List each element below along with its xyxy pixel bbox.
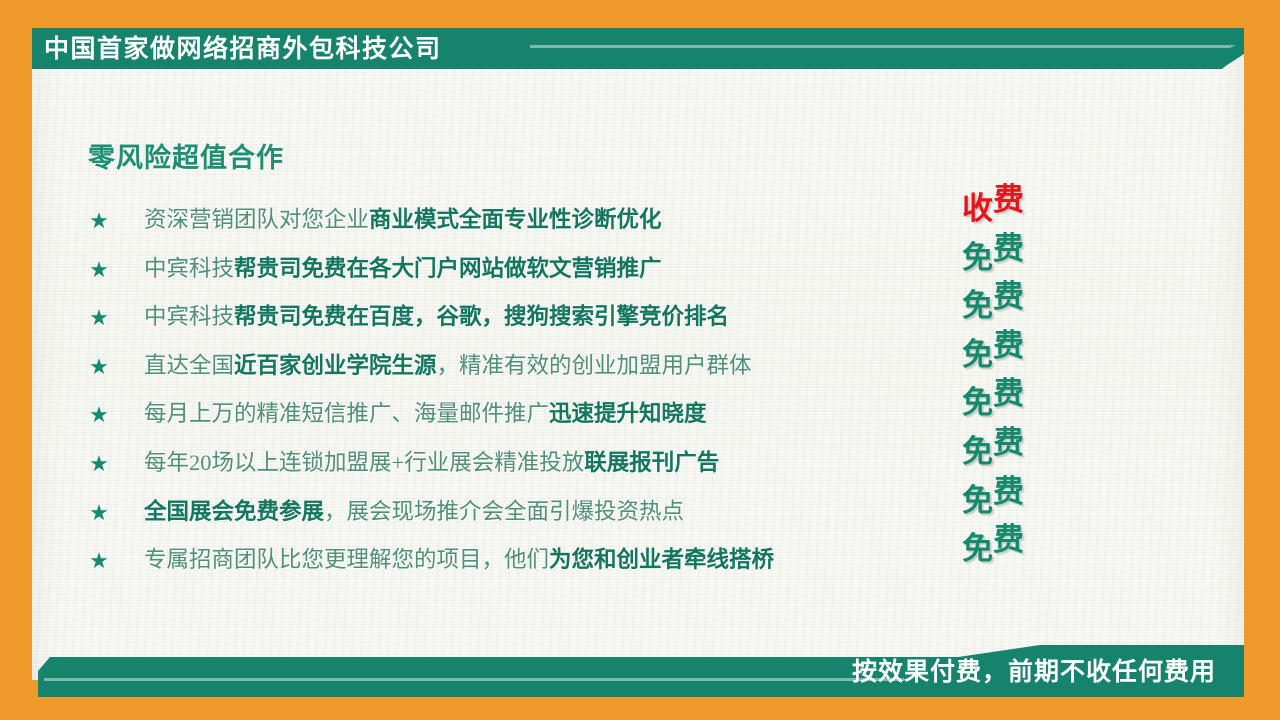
price-tag-char-2: 费 — [993, 475, 1024, 509]
price-tag: 免费 — [962, 338, 1024, 372]
list-item-text: 中宾科技帮贵司免费在各大门户网站做软文营销推广 — [144, 253, 662, 285]
text-normal: 直达全国 — [144, 353, 234, 378]
price-tag-char-2: 费 — [993, 280, 1024, 314]
footer-hairline — [44, 678, 904, 681]
text-emphasis: 联展报刊广告 — [584, 450, 719, 475]
price-tag-char-1: 免 — [962, 289, 993, 323]
price-tag: 免费 — [962, 386, 1024, 420]
price-tag-char-2: 费 — [993, 329, 1024, 363]
price-tag-char-2: 费 — [993, 377, 1024, 411]
price-tag: 免费 — [962, 435, 1024, 469]
star-icon: ★ — [88, 210, 110, 232]
price-tag-char-1: 免 — [962, 435, 993, 469]
text-normal: ，展会现场推介会全面引爆投资热点 — [324, 499, 684, 524]
list-item-text: 专属招商团队比您更理解您的项目，他们为您和创业者牵线搭桥 — [144, 544, 774, 576]
list-item-text: 中宾科技帮贵司免费在百度，谷歌，搜狗搜索引擎竞价排名 — [144, 301, 729, 333]
price-tag-char-2: 费 — [993, 523, 1024, 557]
text-normal: 每年20场以上连锁加盟展+行业展会精准投放 — [144, 450, 584, 475]
text-normal: 资深营销团队对您企业 — [144, 207, 369, 232]
slide-root: 中国首家做网络招商外包科技公司 零风险超值合作 ★资深营销团队对您企业商业模式全… — [0, 0, 1280, 720]
text-emphasis: 商业模式全面专业性诊断优化 — [369, 207, 662, 232]
price-tag-char-1: 免 — [962, 386, 993, 420]
text-emphasis: 为您和创业者牵线搭桥 — [549, 547, 774, 572]
list-item-text: 全国展会免费参展，展会现场推介会全面引爆投资热点 — [144, 496, 684, 528]
section-title: 零风险超值合作 — [88, 136, 284, 175]
list-item: ★专属招商团队比您更理解您的项目，他们为您和创业者牵线搭桥免费 — [88, 538, 1168, 587]
list-item-text: 资深营销团队对您企业商业模式全面专业性诊断优化 — [144, 204, 662, 236]
list-item-text: 每月上万的精准短信推广、海量邮件推广迅速提升知晓度 — [144, 398, 707, 430]
price-tag: 免费 — [962, 241, 1024, 275]
price-tag-char-1: 免 — [962, 532, 993, 566]
star-icon: ★ — [88, 259, 110, 281]
benefit-list: ★资深营销团队对您企业商业模式全面专业性诊断优化收费★中宾科技帮贵司免费在各大门… — [88, 198, 1168, 587]
price-tag-char-1: 免 — [962, 241, 993, 275]
star-icon: ★ — [88, 502, 110, 524]
text-emphasis: 近百家创业学院生源 — [234, 353, 437, 378]
price-tag-char-1: 收 — [962, 192, 993, 226]
price-tag: 免费 — [962, 484, 1024, 518]
text-emphasis: 迅速提升知晓度 — [549, 401, 707, 426]
star-icon: ★ — [88, 404, 110, 426]
price-tag-char-2: 费 — [993, 232, 1024, 266]
list-item-text: 每年20场以上连锁加盟展+行业展会精准投放联展报刊广告 — [144, 447, 719, 479]
text-emphasis: 帮贵司免费在百度，谷歌，搜狗搜索引擎竞价排名 — [234, 304, 729, 329]
text-normal: 每月上万的精准短信推广、海量邮件推广 — [144, 401, 549, 426]
price-tag-char-1: 免 — [962, 338, 993, 372]
star-icon: ★ — [88, 453, 110, 475]
price-tag: 免费 — [962, 289, 1024, 323]
star-icon: ★ — [88, 550, 110, 572]
text-emphasis: 帮贵司免费在各大门户网站做软文营销推广 — [234, 256, 662, 281]
header-hairline — [530, 45, 1236, 48]
header-title: 中国首家做网络招商外包科技公司 — [44, 34, 442, 64]
text-emphasis: 全国展会免费参展 — [144, 499, 324, 524]
star-icon: ★ — [88, 307, 110, 329]
price-tag: 免费 — [962, 532, 1024, 566]
text-normal: 中宾科技 — [144, 304, 234, 329]
text-normal: ，精准有效的创业加盟用户群体 — [437, 353, 752, 378]
price-tag: 收费 — [962, 192, 1024, 226]
text-normal: 专属招商团队比您更理解您的项目，他们 — [144, 547, 549, 572]
list-item-text: 直达全国近百家创业学院生源，精准有效的创业加盟用户群体 — [144, 350, 752, 382]
price-tag-char-2: 费 — [993, 426, 1024, 460]
footer-text: 按效果付费，前期不收任何费用 — [852, 650, 1244, 690]
price-tag-char-2: 费 — [993, 183, 1024, 217]
text-normal: 中宾科技 — [144, 256, 234, 281]
price-tag-char-1: 免 — [962, 484, 993, 518]
star-icon: ★ — [88, 356, 110, 378]
